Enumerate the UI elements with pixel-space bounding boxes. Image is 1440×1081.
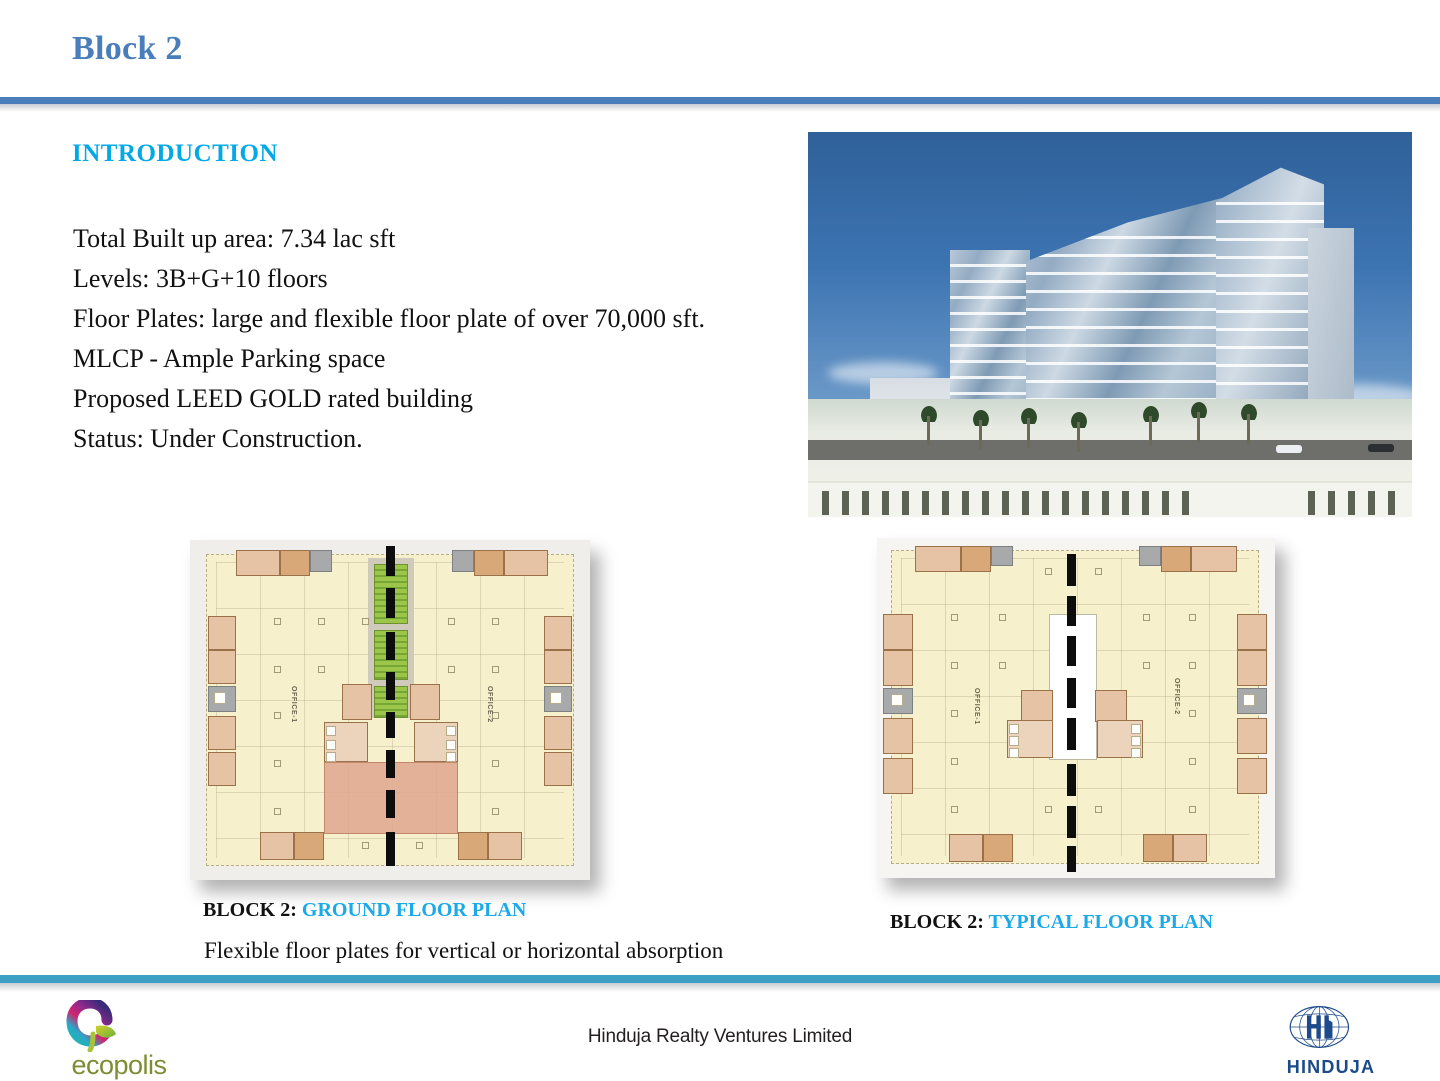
intro-heading: INTRODUCTION: [72, 140, 278, 168]
palm-tree: [1236, 398, 1262, 444]
car: [1368, 444, 1394, 452]
intro-line-leed: Proposed LEED GOLD rated building: [73, 379, 803, 419]
hinduja-globe-icon: [1288, 997, 1374, 1057]
intro-text-block: Total Built up area: 7.34 lac sft Levels…: [73, 219, 803, 459]
hinduja-logo: HINDUJA: [1272, 997, 1390, 1079]
centre-axis-dashed-line: [1067, 538, 1076, 878]
centre-axis-dashed-line: [386, 540, 395, 880]
palm-tree: [1138, 400, 1164, 446]
palm-tree: [1016, 402, 1042, 448]
typical-plan-caption-title: TYPICAL FLOOR PLAN: [989, 911, 1213, 933]
building-rendering-image: [808, 132, 1412, 517]
footer-divider-shadow: [0, 983, 1440, 992]
footer-company-name: Hinduja Realty Ventures Limited: [0, 1026, 1440, 1048]
intro-line-status: Status: Under Construction.: [73, 419, 803, 459]
office-2-label: OFFICE-2: [1173, 678, 1180, 715]
intro-line-levels: Levels: 3B+G+10 floors: [73, 259, 803, 299]
office-2-label: OFFICE-2: [486, 686, 493, 723]
ground-floor-plan-image: OFFICE-1 OFFICE-2: [190, 540, 590, 880]
office-1-label: OFFICE-1: [290, 686, 297, 723]
ecopolis-logo: ecopolis: [44, 1000, 194, 1078]
header-divider-shadow: [0, 104, 1440, 112]
ecopolis-wordmark: ecopolis: [44, 1050, 194, 1081]
boundary-wall: [808, 481, 1412, 517]
typical-plan-caption-prefix: BLOCK 2:: [890, 911, 984, 933]
road: [808, 440, 1412, 460]
palm-tree: [1066, 406, 1092, 452]
ground-plan-caption-prefix: BLOCK 2:: [203, 899, 297, 921]
intro-line-built-up-area: Total Built up area: 7.34 lac sft: [73, 219, 803, 259]
ground-plan-caption: BLOCK 2: GROUND FLOOR PLAN: [203, 899, 526, 922]
page-title: Block 2: [72, 30, 183, 68]
header-divider: [0, 97, 1440, 104]
ground-plan-caption-title: GROUND FLOOR PLAN: [302, 899, 526, 921]
typical-plan-caption: BLOCK 2: TYPICAL FLOOR PLAN: [890, 911, 1213, 934]
palm-tree: [968, 404, 994, 450]
palm-tree: [916, 400, 942, 446]
intro-line-floor-plates: Floor Plates: large and flexible floor p…: [73, 299, 803, 339]
typical-floor-plan-image: OFFICE-1 OFFICE-2: [877, 538, 1275, 878]
palm-tree: [1186, 396, 1212, 442]
ecopolis-e-icon: [66, 1000, 128, 1052]
ground-plan-subtitle: Flexible floor plates for vertical or ho…: [204, 938, 723, 964]
intro-line-mlcp: MLCP - Ample Parking space: [73, 339, 803, 379]
office-1-label: OFFICE-1: [973, 688, 980, 725]
hinduja-wordmark: HINDUJA: [1272, 1057, 1390, 1078]
footer-divider: [0, 975, 1440, 983]
car: [1276, 445, 1302, 453]
